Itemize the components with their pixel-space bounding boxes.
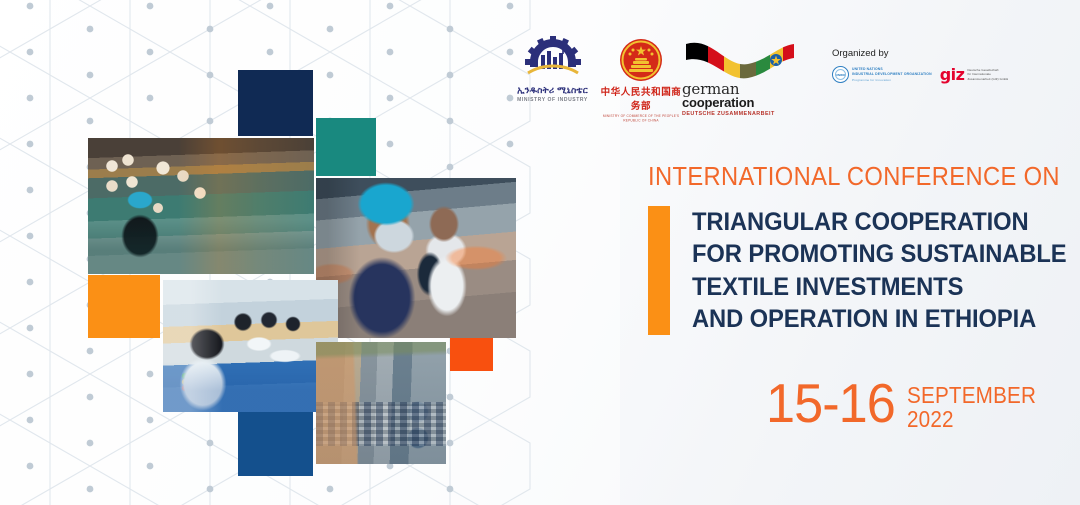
moi-english-name: MINISTRY OF INDUSTRY (505, 97, 600, 103)
photo-aerial-industrial-park (316, 342, 446, 464)
partner-logo-bar: ኢንዱስትሪ ሚኒስቴር MINISTRY OF INDUSTRY (505, 32, 797, 122)
ministry-of-industry-logo: ኢንዱስትሪ ሚኒስቴር MINISTRY OF INDUSTRY (505, 32, 600, 103)
german-ethiopian-flag-ribbon-icon (682, 34, 797, 82)
title-line-3: TEXTILE INVESTMENTS (692, 271, 1067, 303)
headline-kicker: INTERNATIONAL CONFERENCE ON (648, 163, 1020, 192)
headline-title: TRIANGULAR COOPERATION FOR PROMOTING SUS… (692, 206, 1080, 335)
event-month: SEPTEMBER (907, 383, 1036, 407)
event-year: 2022 (907, 407, 1036, 431)
block-navy-top (238, 70, 313, 136)
unido-tagline: Programme for Innovation (852, 78, 932, 82)
organized-by-section: Organized by UNITED NATIONS INDUSTRIAL D… (832, 48, 1032, 83)
photo-yarn-spinning-worker (88, 138, 314, 274)
conference-banner: ኢንዱስትሪ ሚኒስቴር MINISTRY OF INDUSTRY (0, 0, 1080, 505)
photo-masked-garment-worker (316, 178, 516, 338)
giz-logo: giz Deutsche Gesellschaft für Internatio… (940, 67, 1009, 83)
title-line-2: FOR PROMOTING SUSTAINABLE (692, 238, 1067, 270)
block-orange-left (88, 275, 160, 338)
block-teal (316, 118, 376, 176)
gear-factory-icon (505, 34, 600, 86)
photo-sewing-training-room (163, 280, 338, 412)
mofcom-logo: 中华人民共和国商务部 MINISTRY OF COMMERCE OF THE P… (600, 32, 682, 122)
event-date-block: 15-16 SEPTEMBER 2022 (766, 378, 1053, 432)
gc-line2: cooperation (682, 96, 797, 109)
china-national-emblem-icon (600, 36, 682, 84)
moi-amharic-name: ኢንዱስትሪ ሚኒስቴር (505, 86, 600, 96)
unido-logo: UNITED NATIONS INDUSTRIAL DEVELOPMENT OR… (832, 66, 932, 83)
gc-line1: german (682, 82, 797, 96)
mofcom-chinese-name: 中华人民共和国商务部 (600, 84, 682, 112)
german-cooperation-logo: german cooperation DEUTSCHE ZUSAMMENARBE… (682, 32, 797, 117)
organized-by-label: Organized by (832, 48, 1032, 59)
block-red-orange (450, 335, 493, 371)
unido-globe-icon (832, 66, 849, 83)
unido-line2: INDUSTRIAL DEVELOPMENT ORGANIZATION (852, 72, 932, 77)
headline-block: INTERNATIONAL CONFERENCE ON TRIANGULAR C… (648, 163, 1048, 335)
event-days: 15-16 (766, 378, 895, 429)
block-blue-bottom (238, 412, 313, 476)
title-line-1: TRIANGULAR COOPERATION (692, 206, 1067, 238)
gc-line3: DEUTSCHE ZUSAMMENARBEIT (682, 111, 797, 117)
orange-accent-bar (648, 206, 670, 335)
title-line-4: AND OPERATION IN ETHIOPIA (692, 303, 1067, 335)
mofcom-english-name: MINISTRY OF COMMERCE OF THE PEOPLE'S REP… (600, 114, 682, 123)
giz-wordmark-icon: giz (940, 67, 965, 83)
giz-line3: Zusammenarbeit (GIZ) GmbH (967, 77, 1008, 81)
